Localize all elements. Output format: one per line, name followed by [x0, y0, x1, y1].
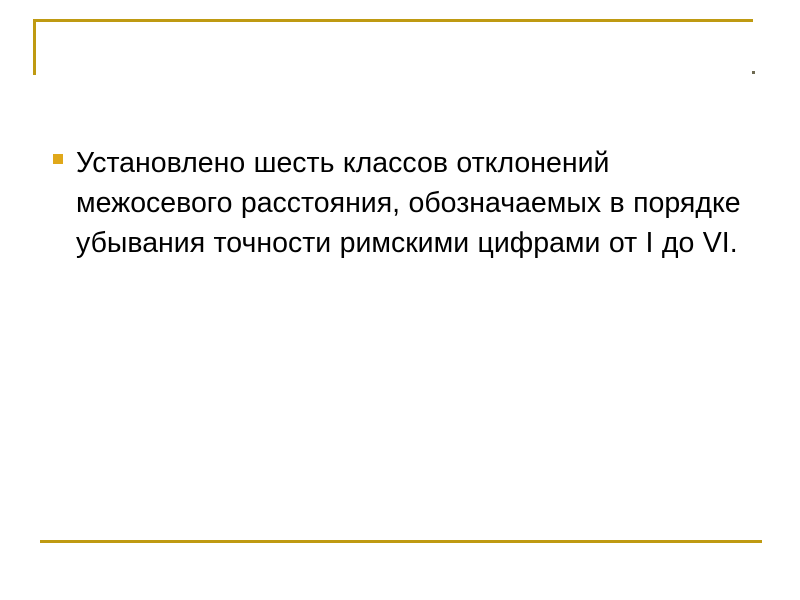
corner-period-mark: . — [752, 71, 755, 74]
slide-canvas: . Установлено шесть классов отклонений м… — [0, 0, 800, 600]
square-bullet-icon — [53, 154, 63, 164]
list-item: Установлено шесть классов отклонений меж… — [50, 143, 765, 263]
bullet-item-label: Установлено шесть классов отклонений меж… — [76, 143, 765, 263]
bottom-horizontal-rule-icon — [40, 540, 762, 543]
slide-body: Установлено шесть классов отклонений меж… — [50, 143, 765, 263]
top-horizontal-rule-icon — [33, 19, 753, 22]
top-vertical-rule-icon — [33, 19, 36, 75]
